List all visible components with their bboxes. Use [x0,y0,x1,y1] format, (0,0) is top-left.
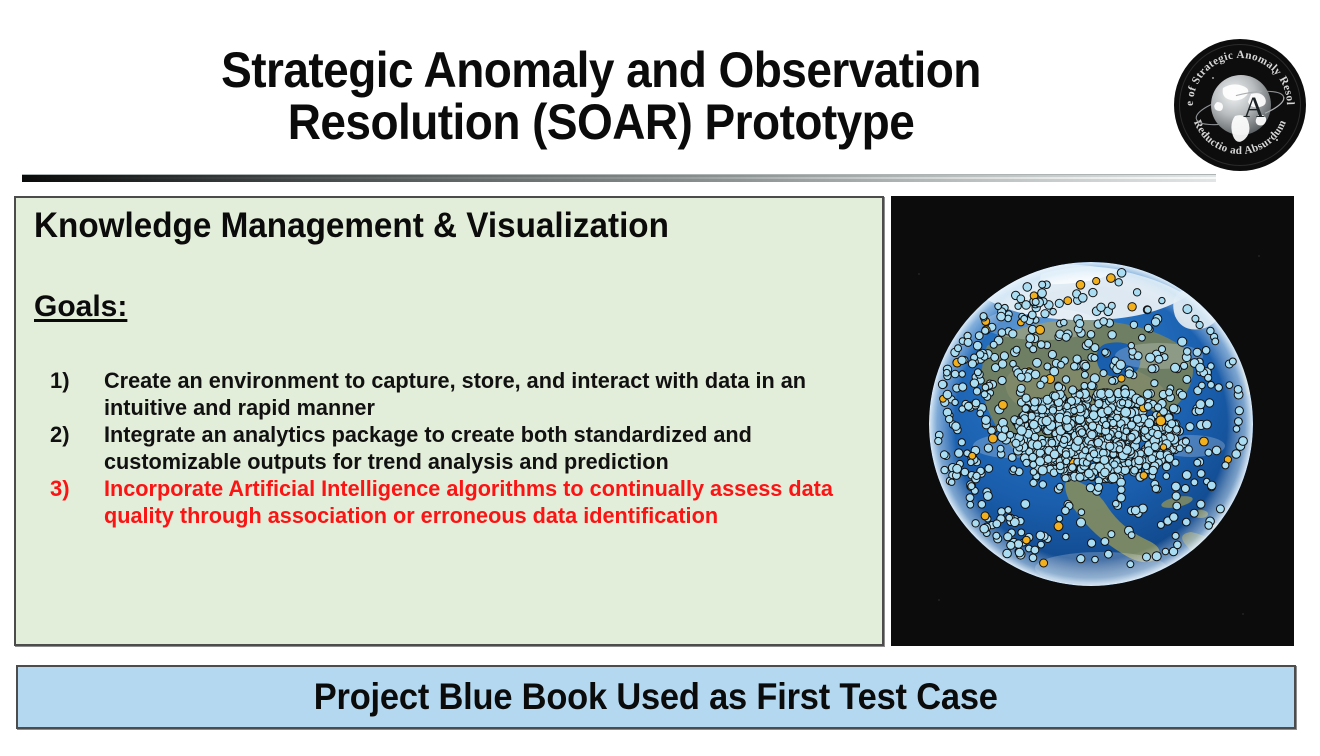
svg-text:A: A [1243,91,1265,124]
goal-item: 3)Incorporate Artificial Intelligence al… [38,476,878,529]
goal-text: Incorporate Artificial Intelligence algo… [104,476,866,529]
goal-item: 1)Create an environment to capture, stor… [38,368,878,421]
goal-item: 2)Integrate an analytics package to crea… [38,422,878,475]
agency-seal: Office of Strategic Anomaly Resolution R… [1173,38,1307,172]
bottom-banner: Project Blue Book Used as First Test Cas… [16,665,1296,729]
goal-number: 1) [38,368,104,395]
goal-text: Integrate an analytics package to create… [104,422,866,475]
goal-number: 2) [38,422,104,449]
goals-label: Goals: [34,290,127,324]
panel-heading: Knowledge Management & Visualization [34,206,669,246]
title-divider [22,174,1216,183]
goals-list: 1)Create an environment to capture, stor… [38,368,878,531]
goal-number: 3) [38,476,104,503]
page-title: Strategic Anomaly and Observation Resolu… [136,44,1065,148]
knowledge-management-panel: Knowledge Management & Visualization Goa… [14,196,884,646]
earth-globe-sightings-map [891,196,1294,646]
bottom-banner-text: Project Blue Book Used as First Test Cas… [314,676,998,718]
goal-text: Create an environment to capture, store,… [104,368,866,421]
